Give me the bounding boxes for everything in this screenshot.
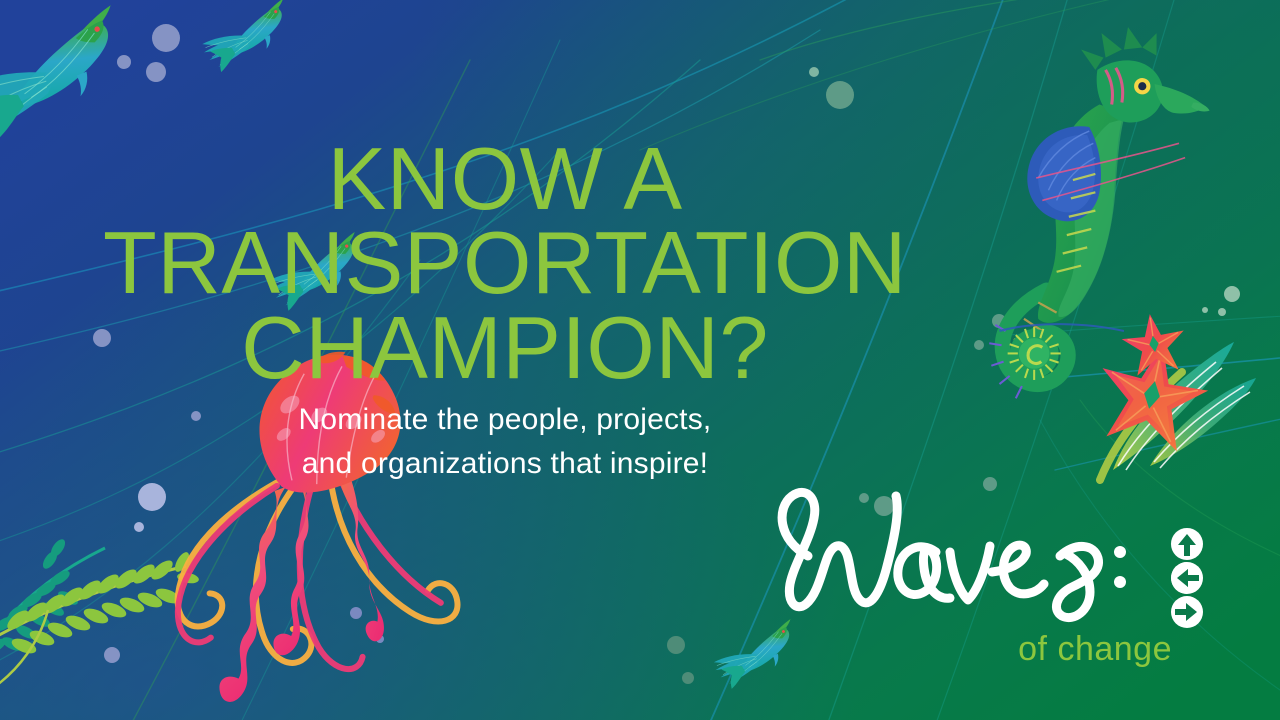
- logo-tagline: of change: [760, 630, 1172, 669]
- fern-leaf-bottom-left-green: [0, 550, 200, 690]
- seahorse: [989, 27, 1209, 398]
- waves-of-change-logo[interactable]: Waves: [760, 478, 1230, 693]
- page-subtitle: Nominate the people, projects, and organ…: [0, 398, 1010, 485]
- arrow-right-circle-icon: [1171, 596, 1203, 628]
- flying-fish-top-left-large: [0, 5, 142, 144]
- arrow-up-circle-icon: [1171, 528, 1203, 560]
- logo-arrow-marks: [1156, 526, 1218, 630]
- arrow-left-circle-icon: [1171, 562, 1203, 594]
- waves-wordmark: Waves: [760, 478, 1180, 638]
- poster-canvas: KNOW A TRANSPORTATION CHAMPION? Nominate…: [0, 0, 1280, 720]
- flying-fish-top-left-mid: [199, 0, 300, 75]
- page-title: KNOW A TRANSPORTATION CHAMPION?: [0, 137, 1010, 390]
- waves-colon-dots: [1114, 546, 1126, 588]
